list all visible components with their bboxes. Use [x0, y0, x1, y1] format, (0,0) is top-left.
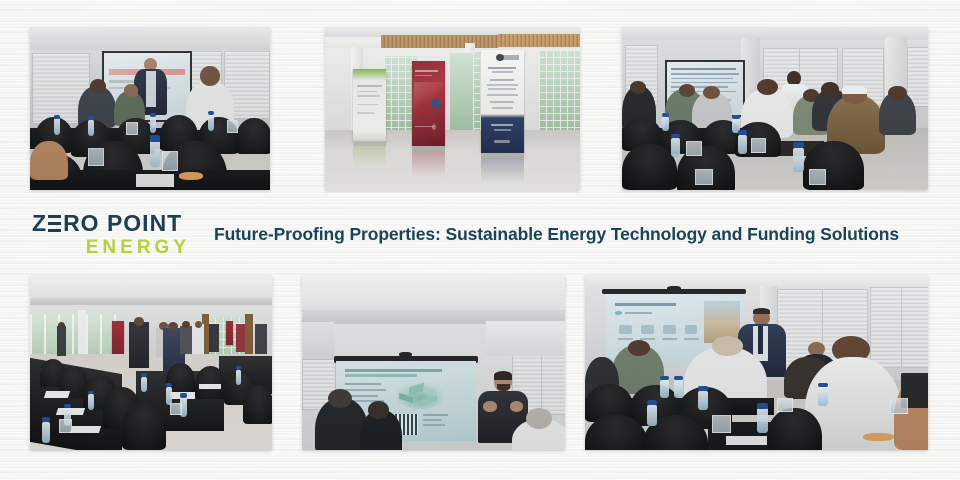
brand-logo-line1: Z RO POINT — [32, 212, 192, 235]
brand-logo: Z RO POINT ENERGY — [32, 212, 192, 257]
photo-bearded-presenter-diagram — [302, 275, 565, 450]
photo-navy-suit-presenter-slide — [585, 275, 928, 450]
brand-logo-e-glyph-icon — [48, 215, 61, 232]
brand-logo-rest: RO POINT — [63, 212, 182, 235]
photo-conference-room-networking — [30, 275, 272, 450]
photo-audience-rear-screen — [622, 27, 928, 190]
caption-bar: Z RO POINT ENERGY Future-Proofing Proper… — [0, 200, 960, 268]
photo-rollup-banners-lobby — [325, 27, 580, 190]
brand-logo-z: Z — [32, 212, 47, 235]
event-title: Future-Proofing Properties: Sustainable … — [214, 224, 899, 245]
photo-presenter-suit-screen — [30, 27, 270, 190]
brand-logo-line2: ENERGY — [32, 238, 192, 257]
